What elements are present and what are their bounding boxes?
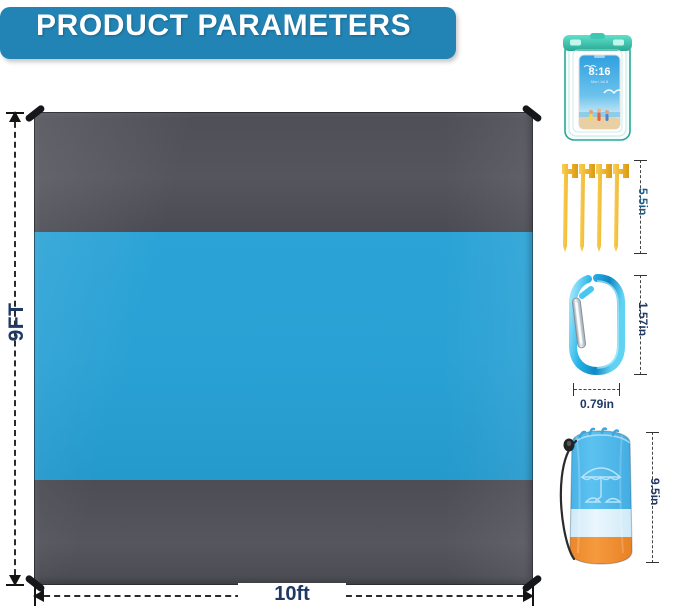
carabiner-width-label: 0.79in [566,397,628,411]
svg-text:Mon Jul 8: Mon Jul 8 [591,79,609,84]
stakes-dimension-tick-bottom [634,253,647,254]
bag-dimension-tick-bottom [646,562,659,563]
arrow-left-icon [33,590,44,602]
bag-dimension-label: 9.5in [648,478,662,505]
stakes-dimension-label: 5.5in [636,188,650,215]
blanket-band-middle [34,232,533,480]
blanket-width-label: 10ft [238,583,346,606]
bag-dimension-tick-top [646,432,659,433]
carabiner-height-tick-bottom [634,374,647,375]
arrow-down-icon [9,575,21,586]
carabiner-height-tick-top [634,275,647,276]
carry-bag [556,425,644,570]
waterproof-phone-pouch: 8:16 Mon Jul 8 [560,33,635,143]
stakes-dimension-tick-top [634,160,647,161]
accessories-column: 8:16 Mon Jul 8 [548,0,679,611]
carry-bag-icon [556,425,644,570]
page-title: PRODUCT PARAMETERS [36,9,411,43]
tent-stakes-icon [560,158,632,256]
carabiner [562,272,632,377]
blanket-band-top [34,112,533,232]
carabiner-width-dimension-line [574,389,620,390]
carabiner-icon [562,272,632,377]
carabiner-height-label: 1.57in [636,302,650,336]
arrow-up-icon [9,111,21,122]
carabiner-width-tick-right [619,383,620,396]
tent-stakes [560,158,632,256]
carabiner-width-tick-left [573,383,574,396]
arrow-right-icon [523,590,534,602]
blanket-height-label: 9FT [5,292,29,352]
phone-time-text: 8:16 [588,66,610,78]
blanket-band-bottom [34,480,533,585]
phone-pouch-icon: 8:16 Mon Jul 8 [560,33,635,143]
beach-blanket [34,112,533,585]
